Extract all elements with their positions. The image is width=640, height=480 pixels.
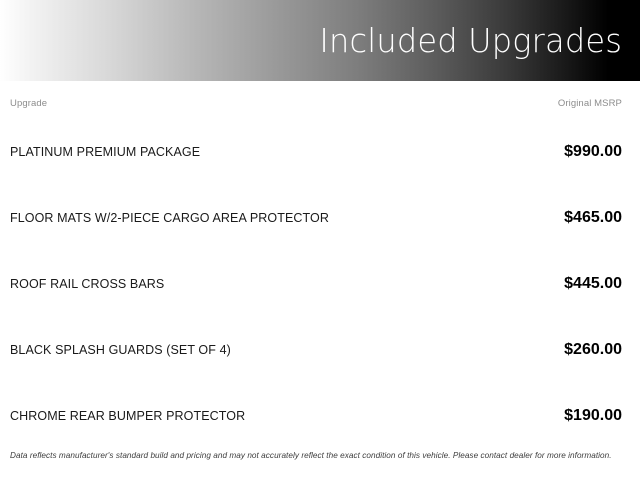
table-header-row: Upgrade Original MSRP (10, 81, 622, 119)
upgrade-name: BLACK SPLASH GUARDS (SET OF 4) (10, 343, 231, 357)
upgrade-price: $190.00 (564, 407, 622, 425)
upgrade-price: $465.00 (564, 209, 622, 227)
column-header-original-msrp: Original MSRP (558, 98, 622, 109)
page-header-banner: Included Upgrades (0, 0, 640, 81)
table-row: BLACK SPLASH GUARDS (SET OF 4) $260.00 (10, 317, 622, 383)
upgrade-price: $445.00 (564, 275, 622, 293)
table-row: FLOOR MATS W/2-PIECE CARGO AREA PROTECTO… (10, 185, 622, 251)
upgrade-name: ROOF RAIL CROSS BARS (10, 277, 164, 291)
upgrade-price: $260.00 (564, 341, 622, 359)
table-row: ROOF RAIL CROSS BARS $445.00 (10, 251, 622, 317)
included-upgrades-page: Included Upgrades Upgrade Original MSRP … (0, 0, 640, 480)
upgrades-table: Upgrade Original MSRP PLATINUM PREMIUM P… (0, 81, 640, 449)
disclaimer-text: Data reflects manufacturer's standard bu… (0, 451, 640, 461)
upgrade-name: CHROME REAR BUMPER PROTECTOR (10, 409, 245, 423)
upgrade-price: $990.00 (564, 143, 622, 161)
upgrade-name: FLOOR MATS W/2-PIECE CARGO AREA PROTECTO… (10, 211, 329, 225)
table-row: PLATINUM PREMIUM PACKAGE $990.00 (10, 119, 622, 185)
column-header-upgrade: Upgrade (10, 98, 47, 109)
table-row: CHROME REAR BUMPER PROTECTOR $190.00 (10, 383, 622, 449)
upgrade-name: PLATINUM PREMIUM PACKAGE (10, 145, 200, 159)
page-title: Included Upgrades (319, 24, 622, 57)
upgrades-row-list: PLATINUM PREMIUM PACKAGE $990.00 FLOOR M… (10, 119, 622, 449)
